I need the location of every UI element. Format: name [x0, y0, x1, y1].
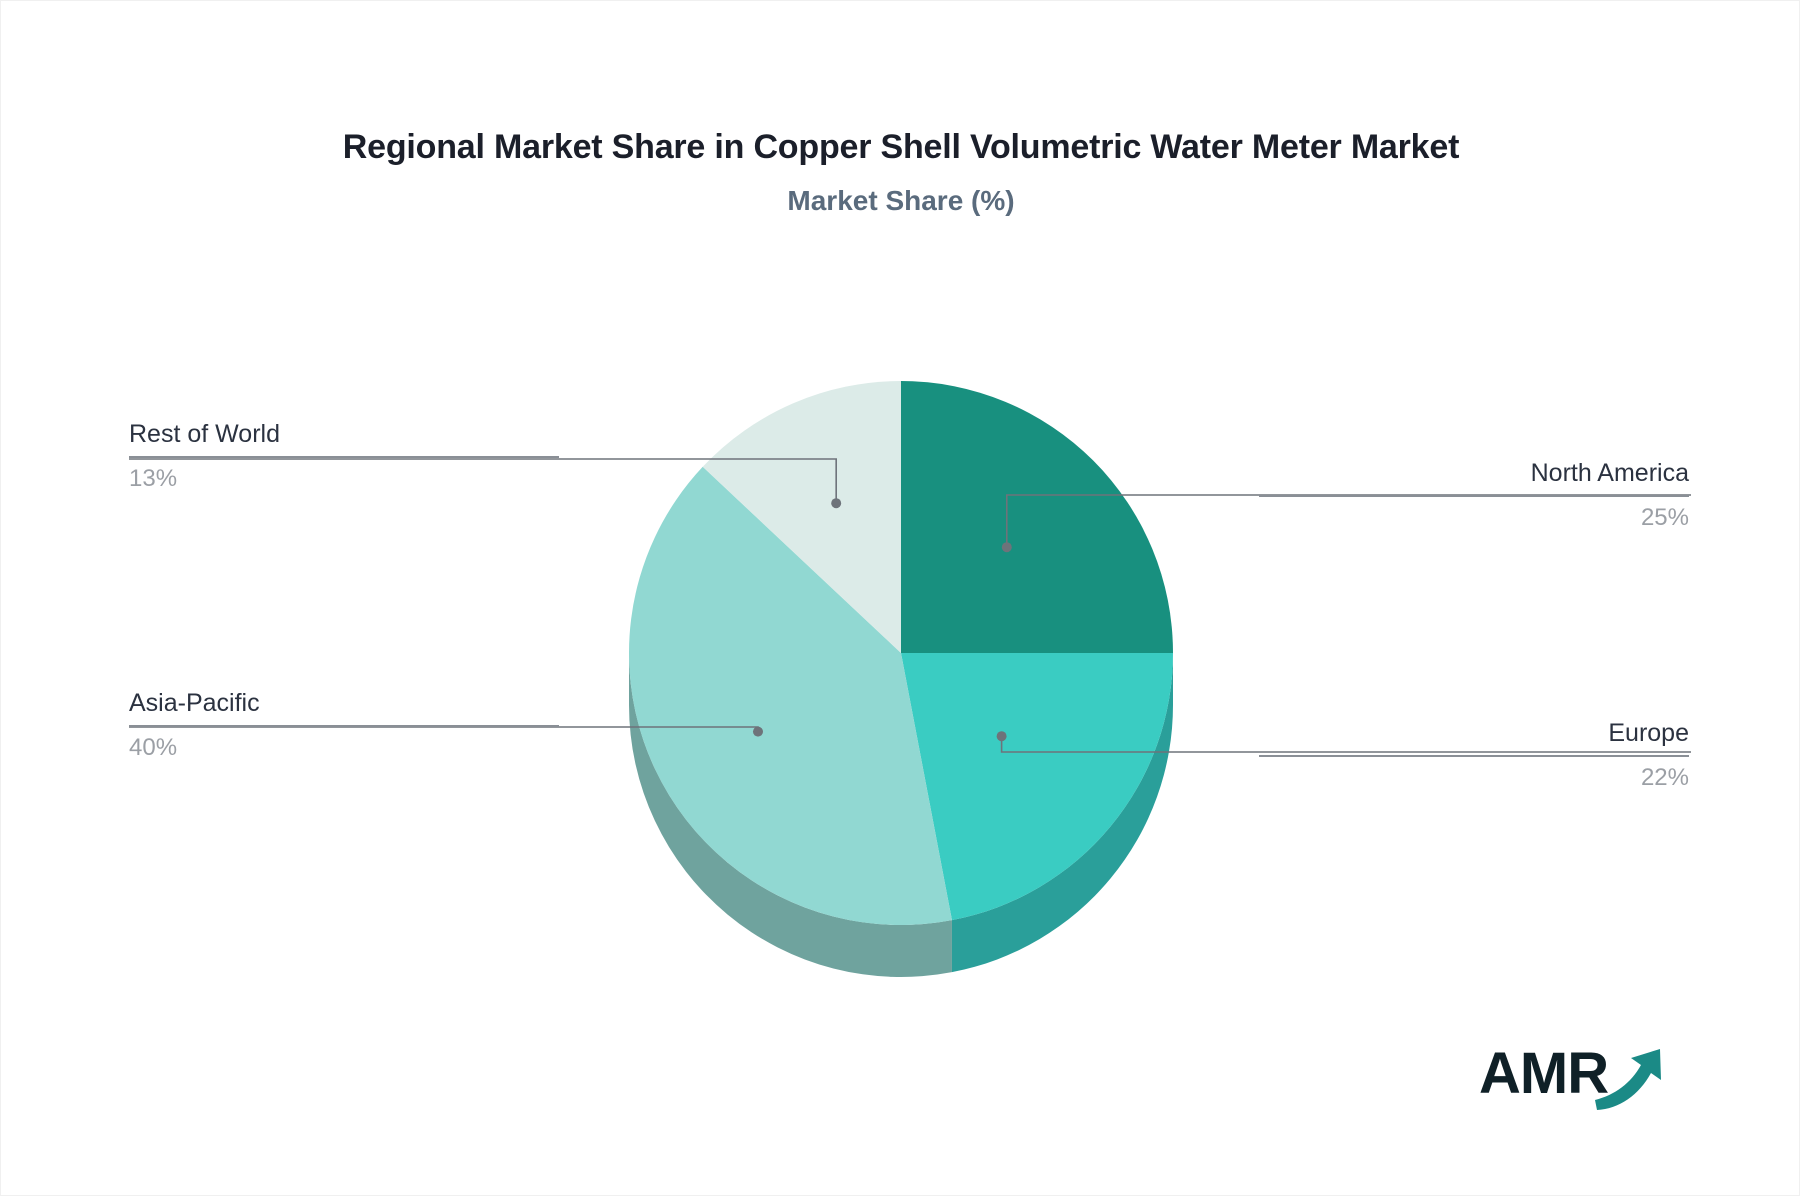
- callout-value-rest-of-world: 13%: [129, 465, 559, 494]
- callout-rule: [129, 456, 559, 458]
- callout-europe: Europe 22%: [1259, 718, 1689, 793]
- callout-rule: [1259, 495, 1689, 497]
- callout-value-north-america: 25%: [1259, 504, 1689, 533]
- amr-logo-svg: AMR: [1479, 1037, 1679, 1117]
- callout-rule: [1259, 755, 1689, 757]
- callout-value-europe: 22%: [1259, 764, 1689, 793]
- callout-north-america: North America 25%: [1259, 458, 1689, 533]
- callout-asia-pacific: Asia-Pacific 40%: [129, 688, 559, 763]
- pie-chart-svg: [1, 1, 1800, 1196]
- callout-label-rest-of-world: Rest of World: [129, 419, 559, 450]
- leader-dot-rest-of-world: [831, 498, 841, 508]
- callout-rule: [129, 725, 559, 727]
- callout-value-asia-pacific: 40%: [129, 734, 559, 763]
- pie-slice-north-america[interactable]: [901, 381, 1173, 653]
- leader-dot-north-america: [1002, 542, 1012, 552]
- callout-rest-of-world: Rest of World 13%: [129, 419, 559, 494]
- pie-slices: [629, 381, 1173, 925]
- leader-dot-europe: [997, 731, 1007, 741]
- callout-label-asia-pacific: Asia-Pacific: [129, 688, 559, 719]
- callout-label-europe: Europe: [1259, 718, 1689, 749]
- pie-chart-area: [1, 1, 1800, 1196]
- callout-label-north-america: North America: [1259, 458, 1689, 489]
- amr-logo: AMR: [1479, 1037, 1679, 1117]
- leader-dot-asia-pacific: [753, 727, 763, 737]
- amr-logo-wordmark: AMR: [1479, 1041, 1608, 1106]
- chart-canvas: Regional Market Share in Copper Shell Vo…: [0, 0, 1800, 1196]
